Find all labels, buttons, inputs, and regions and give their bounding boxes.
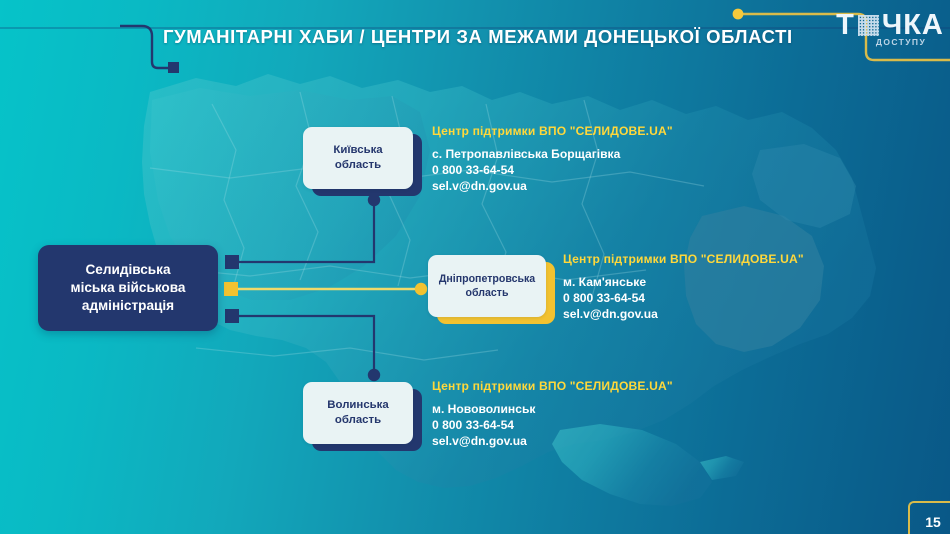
region-label: Волинська область (327, 398, 388, 429)
center-title: Центр підтримки ВПО "СЕЛИДОВЕ.UA" (563, 252, 804, 266)
page-number: 15 (925, 514, 941, 530)
center-title: Центр підтримки ВПО "СЕЛИДОВЕ.UA" (432, 124, 673, 138)
info-block-volyn: Центр підтримки ВПО "СЕЛИДОВЕ.UA" м. Нов… (432, 379, 673, 449)
center-email[interactable]: sel.v@dn.gov.ua (432, 433, 673, 449)
admin-box[interactable]: Селидівська міська військова адміністрац… (38, 245, 218, 331)
region-card-kyiv[interactable]: Київська область (303, 127, 425, 199)
center-phone[interactable]: 0 800 33-64-54 (432, 162, 673, 178)
info-block-dnipro: Центр підтримки ВПО "СЕЛИДОВЕ.UA" м. Кам… (563, 252, 804, 322)
region-card-volyn[interactable]: Волинська область (303, 382, 425, 454)
region-card-face: Дніпропетровська область (428, 255, 546, 317)
center-address: с. Петропавлівська Борщагівка (432, 146, 673, 162)
admin-name: Селидівська міська військова адміністрац… (71, 261, 186, 315)
region-card-face: Волинська область (303, 382, 413, 444)
center-phone[interactable]: 0 800 33-64-54 (563, 290, 804, 306)
slide-canvas: ГУМАНІТАРНІ ХАБИ / ЦЕНТРИ ЗА МЕЖАМИ ДОНЕ… (0, 0, 950, 534)
center-address: м. Нововолинськ (432, 401, 673, 417)
info-block-kyiv: Центр підтримки ВПО "СЕЛИДОВЕ.UA" с. Пет… (432, 124, 673, 194)
region-card-face: Київська область (303, 127, 413, 189)
center-title: Центр підтримки ВПО "СЕЛИДОВЕ.UA" (432, 379, 673, 393)
region-card-dnipro[interactable]: Дніпропетровська область (428, 255, 560, 327)
center-phone[interactable]: 0 800 33-64-54 (432, 417, 673, 433)
center-address: м. Кам'янське (563, 274, 804, 290)
region-label: Дніпропетровська область (439, 272, 535, 301)
center-email[interactable]: sel.v@dn.gov.ua (432, 178, 673, 194)
center-email[interactable]: sel.v@dn.gov.ua (563, 306, 804, 322)
page-number-badge: 15 (908, 501, 950, 534)
region-label: Київська область (333, 143, 382, 174)
